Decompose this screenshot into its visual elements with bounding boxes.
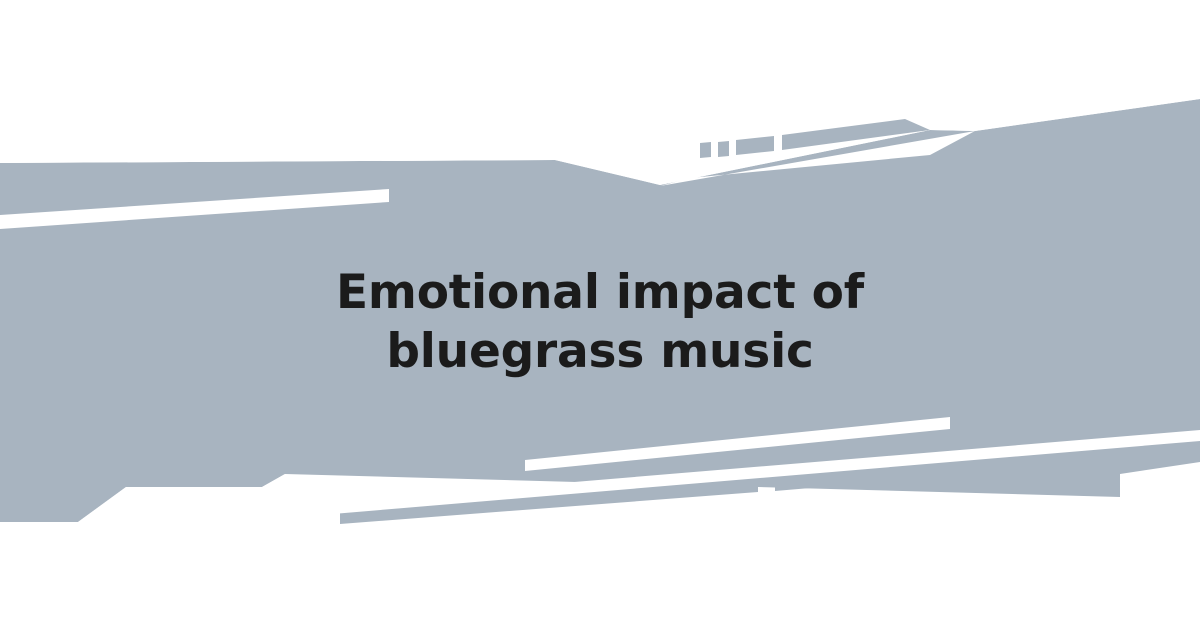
hero-banner: Emotional impact of bluegrass music <box>0 0 1200 630</box>
dash-mark-1 <box>700 142 711 158</box>
background-decoration <box>0 0 1200 630</box>
dash-mark-2 <box>718 141 729 157</box>
